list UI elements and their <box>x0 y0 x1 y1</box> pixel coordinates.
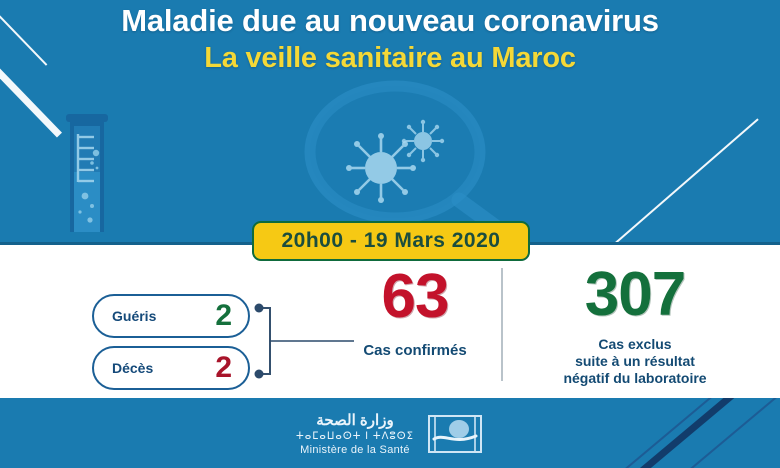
virus-icon <box>346 133 416 203</box>
excluded-cases-block: 307 Cas exclus suite à un résultat négat… <box>520 264 750 387</box>
excluded-cases-caption-line-3: négatif du laboratoire <box>520 370 750 387</box>
stat-pill-gueris: Guéris 2 <box>92 294 250 338</box>
magnifier-icon <box>295 78 525 238</box>
confirmed-cases-caption: Cas confirmés <box>330 342 500 359</box>
stat-pill-gueris-label: Guéris <box>112 308 215 324</box>
stat-pill-deces: Décès 2 <box>92 346 250 390</box>
poster-header: Maladie due au nouveau coronavirus La ve… <box>0 0 780 75</box>
test-tube-icon <box>52 110 122 235</box>
decor-stripe-top-right-thin <box>614 118 759 244</box>
ministry-name-arabic: وزارة الصحة <box>296 412 414 430</box>
date-badge: 20h00 - 19 Mars 2020 <box>252 221 530 261</box>
title-line-1: Maladie due au nouveau coronavirus <box>0 0 780 40</box>
ministry-logo: وزارة الصحة ⵜⴰⵎⴰⵡⴰⵙⵜ ⵏ ⵜⴷⵓⵙⵉ Ministère d… <box>0 400 780 468</box>
excluded-cases-caption-line-1: Cas exclus <box>520 336 750 353</box>
confirmed-cases-value: 63 <box>330 266 500 328</box>
stat-pill-deces-label: Décès <box>112 360 215 376</box>
date-badge-label: 20h00 - 19 Mars 2020 <box>282 229 501 253</box>
excluded-cases-value: 307 <box>520 264 750 326</box>
confirmed-cases-block: 63 Cas confirmés <box>330 266 500 359</box>
infographic-poster: Maladie due au nouveau coronavirus La ve… <box>0 0 780 468</box>
excluded-cases-caption-line-2: suite à un résultat <box>520 353 750 370</box>
ministry-emblem-icon <box>426 412 484 456</box>
stat-pill-gueris-value: 2 <box>215 301 232 331</box>
stat-pill-deces-value: 2 <box>215 353 232 383</box>
ministry-logo-text: وزارة الصحة ⵜⴰⵎⴰⵡⴰⵙⵜ ⵏ ⵜⴷⵓⵙⵉ Ministère d… <box>296 412 414 457</box>
ministry-name-french: Ministère de la Santé <box>296 443 414 457</box>
virus-icon <box>402 120 444 162</box>
title-line-2: La veille sanitaire au Maroc <box>0 40 780 76</box>
excluded-cases-caption: Cas exclus suite à un résultat négatif d… <box>520 336 750 387</box>
vertical-divider <box>501 268 503 381</box>
ministry-name-tifinagh: ⵜⴰⵎⴰⵡⴰⵙⵜ ⵏ ⵜⴷⵓⵙⵉ <box>296 430 414 443</box>
